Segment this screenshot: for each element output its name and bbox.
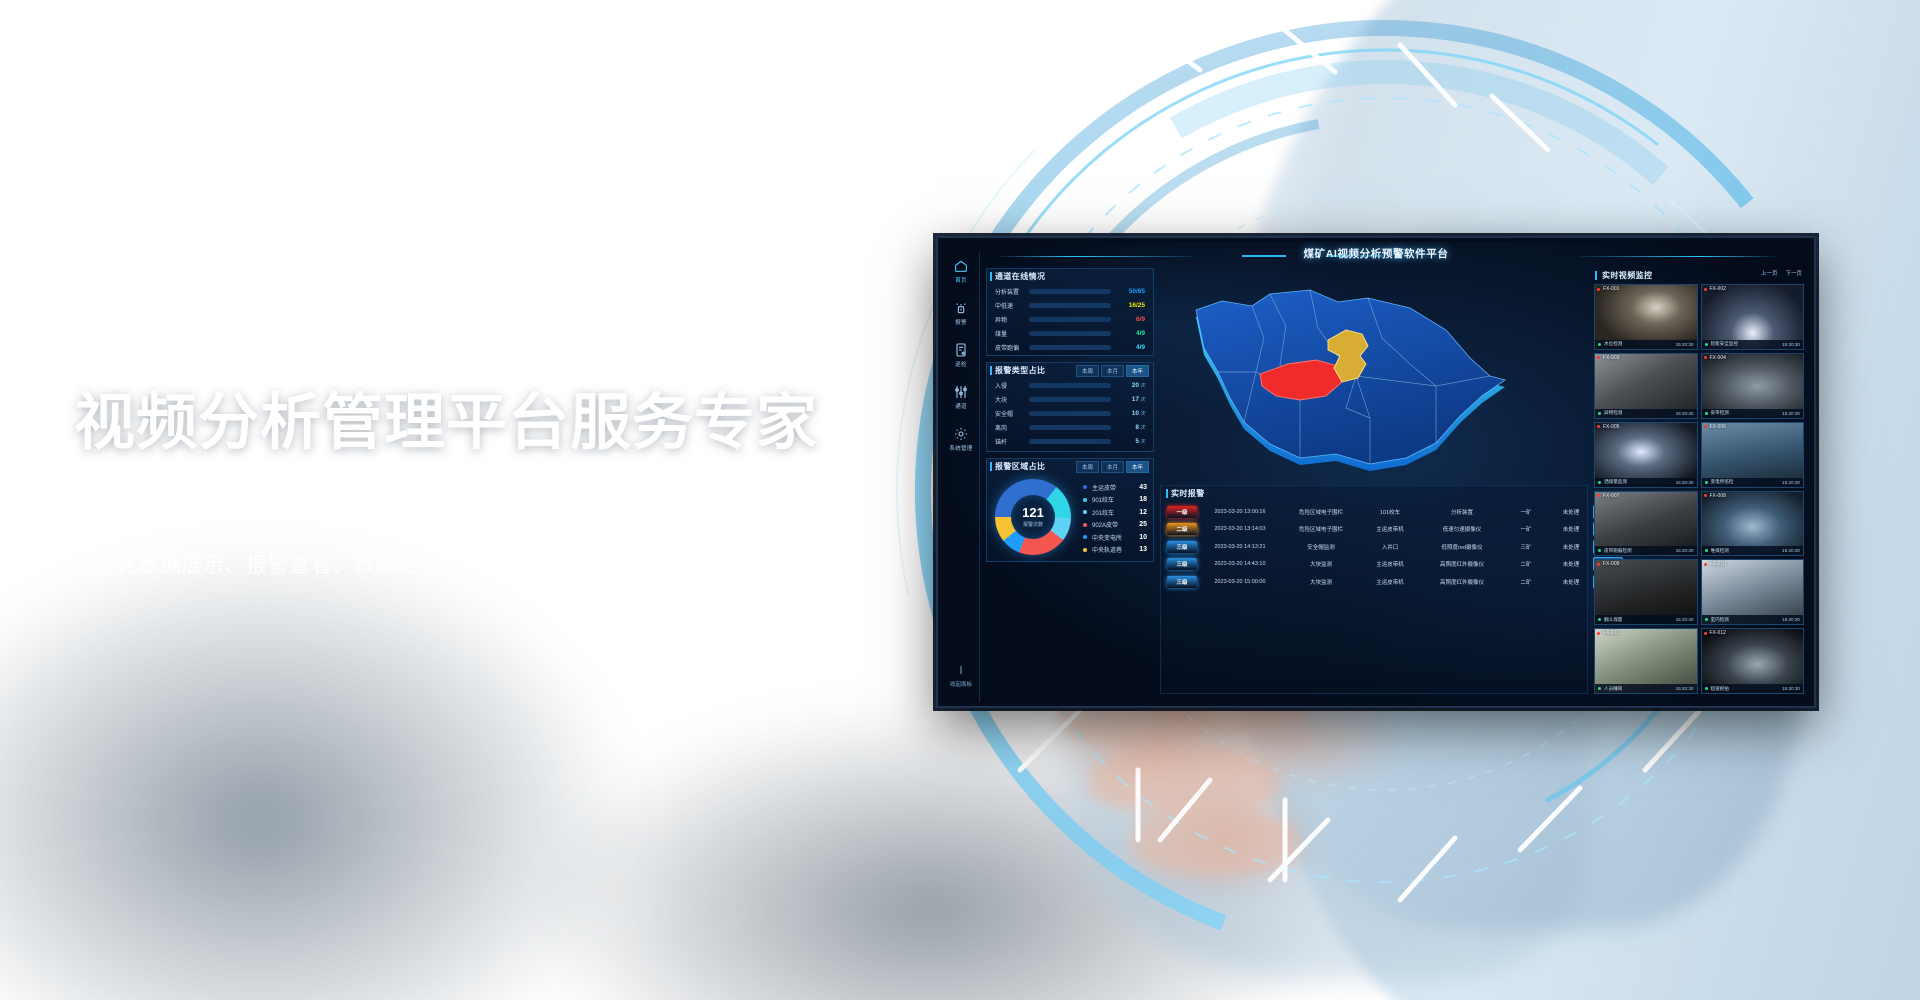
table-row: 三级2023-03-20 14:13:21安全帽监测入井口低照度red摄像仪三矿… (1161, 538, 1587, 556)
video-tile-name: 室内检测 (1711, 617, 1783, 623)
panel-accent-bar (990, 462, 992, 471)
alarm-type-name: 离岗 (995, 423, 1029, 432)
online-status-icon (1705, 687, 1708, 690)
online-status-icon (1598, 412, 1601, 415)
alarm-type: 危险区域电子围栏 (1283, 525, 1359, 533)
alarm-type-value: 20次 (1111, 382, 1145, 389)
channel-icon (953, 384, 969, 400)
legend-value: 13 (1127, 546, 1147, 553)
sidebar-label-system-settings: 系统管理 (942, 444, 980, 452)
legend-item: 中央变电所10 (1083, 531, 1147, 544)
alarm-type: 大块监测 (1283, 560, 1359, 568)
alarm-device: 低照度red摄像仪 (1421, 543, 1503, 551)
sidebar-item-channel[interactable]: 通道 (942, 384, 980, 410)
alarm-level-badge: 二级 (1167, 523, 1197, 535)
video-tile-name: 翻斗煤量 (1604, 617, 1676, 623)
channel-row-value: 4/9 (1111, 330, 1145, 337)
camera-id: FX-005 (1597, 424, 1619, 430)
dashboard-screen: 煤矿AI视频分析预警软件平台 首页 (942, 242, 1810, 702)
video-timestamp: 15:20:30 (1782, 686, 1800, 691)
map-svg (1160, 268, 1552, 480)
video-tile[interactable]: FX-006变电所巡检15:20:30 (1701, 422, 1805, 488)
alarm-time: 2023-03-20 14:13:21 (1197, 544, 1283, 550)
alarm-area-period-tabs[interactable]: 本周本月本年 (1076, 461, 1149, 473)
donut-total-caption: 报警次数 (1023, 521, 1043, 528)
alarm-type-rows: 入侵20次大块17次安全帽10次离岗8次锚杆5次 (987, 378, 1153, 448)
donut-center: 121 报警次数 (1011, 495, 1055, 539)
video-tile-name: 皮带检测 (1711, 410, 1783, 416)
legend-item: 201绞车12 (1083, 506, 1147, 519)
alarm-icon (953, 300, 969, 316)
channel-row-track (1029, 303, 1111, 308)
alarm-level-badge: 三级 (1167, 576, 1197, 588)
channel-status-panel: 通道在线情况 分析装置50/65中低速16/25异物6/9煤量4/9皮带跑偏4/… (986, 268, 1154, 356)
alarm-type-track (1029, 383, 1111, 388)
video-tile-name: 堆煤检测 (1711, 548, 1783, 554)
panel-accent-bar (990, 272, 992, 281)
online-status-icon (1598, 343, 1601, 346)
channel-row-name: 煤量 (995, 329, 1029, 338)
channel-row-value: 16/25 (1111, 302, 1145, 309)
alarm-type-track (1029, 411, 1111, 416)
dashboard-header: 煤矿AI视频分析预警软件平台 (942, 242, 1810, 268)
video-tile-name: 洒煤量监测 (1604, 479, 1676, 485)
hero-subtitle: EXPERT IN VIDEO ANALYSIS MANAGEMENT PLAT… (74, 474, 934, 500)
alarm-device: 高照度红外摄像仪 (1421, 560, 1503, 568)
alarm-type-unit: 次 (1140, 397, 1145, 403)
video-tile[interactable]: FX-001水位检测15:20:30 (1594, 284, 1698, 350)
alarm-type-unit: 次 (1140, 411, 1145, 417)
realtime-alarm-header: 实时报警 (1161, 486, 1587, 501)
video-timestamp: 15:20:30 (1676, 480, 1694, 485)
alarm-type-unit: 次 (1140, 425, 1145, 431)
video-timestamp: 15:20:30 (1782, 617, 1800, 622)
background-blur-bottom (520, 700, 1340, 1000)
period-tab[interactable]: 本月 (1101, 365, 1124, 377)
channel-row-track (1029, 317, 1111, 322)
page-title: 视频分析管理平台服务专家 (74, 390, 934, 454)
panel-accent-bar (1166, 489, 1168, 498)
video-tile[interactable]: FX-003异物检测15:20:30 (1594, 353, 1698, 419)
video-timestamp: 15:20:30 (1676, 686, 1694, 691)
sidebar-label-channel: 通道 (942, 402, 980, 410)
alarm-type: 安全帽监测 (1283, 543, 1359, 551)
table-row: 三级2023-03-20 15:00:00大块监测主运皮带机高照度红外摄像仪二矿… (1161, 573, 1587, 591)
legend-dot (1083, 535, 1087, 539)
alarm-time: 2023-03-20 15:00:00 (1197, 579, 1283, 585)
alarm-time: 2023-03-20 14:43:10 (1197, 561, 1283, 567)
channel-row-track (1029, 289, 1111, 294)
hero-divider (74, 522, 110, 525)
channel-row-track (1029, 345, 1111, 350)
camera-id: FX-010 (1704, 561, 1726, 567)
alarm-type: 危险区域电子围栏 (1283, 508, 1359, 516)
table-row: 一级2023-03-20 13:00:16危险区域电子围栏101绞车分析装置一矿… (1161, 503, 1587, 521)
alarm-type-period-tabs[interactable]: 本周本月本年 (1076, 365, 1149, 377)
alarm-type-value: 8次 (1111, 424, 1145, 431)
video-tile[interactable]: FX-002智能安全监控15:20:30 (1701, 284, 1805, 350)
alarm-area-panel-header: 报警区域占比 本周本月本年 (987, 459, 1153, 474)
video-timestamp: 15:20:30 (1676, 548, 1694, 553)
legend-value: 25 (1127, 521, 1147, 528)
online-status-icon (1598, 618, 1601, 621)
video-tile-footer: 洒煤量监测15:20:30 (1595, 478, 1697, 487)
video-tile[interactable]: FX-005洒煤量监测15:20:30 (1594, 422, 1698, 488)
video-tile-name: 水位检测 (1604, 341, 1676, 347)
channel-panel-title: 通道在线情况 (995, 272, 1045, 281)
video-timestamp: 15:20:30 (1782, 480, 1800, 485)
legend-item: 902A皮带25 (1083, 519, 1147, 532)
alarm-mine: 二矿 (1503, 560, 1549, 568)
sidebar-item-alarm[interactable]: 报警 (942, 300, 980, 326)
channel-row-name: 异物 (995, 315, 1029, 324)
sidebar-label-home: 首页 (942, 276, 980, 284)
alarm-type-panel-title: 报警类型占比 (995, 366, 1045, 375)
sidebar-label-alarm: 报警 (942, 318, 980, 326)
realtime-alarm-title: 实时报警 (1171, 489, 1205, 498)
sidebar-collapse-label: 收起面板 (950, 682, 972, 688)
alarm-location: 主运皮带机 (1359, 578, 1421, 586)
camera-id: FX-004 (1704, 355, 1726, 361)
header-line-right (1580, 256, 1780, 257)
prev-page-button[interactable]: 上一页 (1761, 269, 1778, 277)
alarm-level-badge: 三级 (1167, 558, 1197, 570)
alarm-type-name: 锚杆 (995, 437, 1029, 446)
camera-id: FX-012 (1704, 630, 1726, 636)
alarm-type-track (1029, 397, 1111, 402)
sidebar-item-home[interactable]: 首页 (942, 258, 980, 284)
video-tile[interactable]: FX-008堆煤检测15:20:30 (1701, 491, 1805, 557)
legend-value: 10 (1127, 534, 1147, 541)
alarm-type-value: 17次 (1111, 396, 1145, 403)
legend-dot (1083, 548, 1087, 552)
video-tile-footer: 人员睡岗15:20:30 (1595, 684, 1697, 693)
period-tab[interactable]: 本周 (1076, 365, 1099, 377)
video-tile-name: 异物检测 (1604, 410, 1676, 416)
legend-value: 12 (1127, 509, 1147, 516)
alarm-location: 主运皮带机 (1359, 525, 1421, 533)
background-blur-left (0, 540, 640, 1000)
video-tile[interactable]: FX-012超速抓拍15:20:30 (1701, 628, 1805, 694)
legend-value: 18 (1127, 496, 1147, 503)
video-tile-name: 智能安全监控 (1711, 341, 1783, 347)
online-status-icon (1598, 549, 1601, 552)
video-tile-footer: 堆煤检测15:20:30 (1702, 546, 1804, 555)
legend-item: 主运皮带43 (1083, 481, 1147, 494)
online-status-icon (1705, 618, 1708, 621)
home-icon (953, 258, 969, 274)
camera-id: FX-009 (1597, 561, 1619, 567)
alarm-time: 2023-03-20 13:00:16 (1197, 509, 1283, 515)
channel-row: 分析装置50/65 (987, 284, 1153, 298)
alarm-area-panel: 报警区域占比 本周本月本年 121 报警次数 主运皮带43901绞车18201绞… (986, 458, 1154, 562)
alarm-type-unit: 次 (1140, 439, 1145, 445)
period-tab[interactable]: 本周 (1076, 461, 1099, 473)
channel-row: 皮带跑偏4/9 (987, 340, 1153, 354)
dashboard-sidebar: 首页 报警 巡检 (942, 252, 980, 702)
video-tile-footer: 智能安全监控15:20:30 (1702, 340, 1804, 349)
next-page-button[interactable]: 下一页 (1785, 269, 1802, 277)
alarm-type-row: 入侵20次 (987, 378, 1153, 392)
video-tile-footer: 翻斗煤量15:20:30 (1595, 615, 1697, 624)
camera-id: FX-002 (1704, 286, 1726, 292)
regional-map[interactable] (1160, 268, 1552, 480)
alarm-time: 2023-03-20 13:14:03 (1197, 526, 1283, 532)
video-tile-footer: 超速抓拍15:20:30 (1702, 684, 1804, 693)
channel-row-value: 6/9 (1111, 316, 1145, 323)
panel-accent-bar (990, 366, 992, 375)
legend-label: 主运皮带 (1092, 483, 1127, 492)
alarm-location: 101绞车 (1359, 508, 1421, 516)
video-tile[interactable]: FX-011人员睡岗15:20:30 (1594, 628, 1698, 694)
alarm-type-row: 大块17次 (987, 392, 1153, 406)
video-tile[interactable]: FX-010室内检测15:20:30 (1701, 559, 1805, 625)
alarm-status: 未处理 (1549, 543, 1593, 551)
channel-row-track (1029, 331, 1111, 336)
channel-row-value: 50/65 (1111, 288, 1145, 295)
video-tile-footer: 皮带跑偏检测15:20:30 (1595, 546, 1697, 555)
alarm-location: 主运皮带机 (1359, 560, 1421, 568)
alarm-status: 未处理 (1549, 560, 1593, 568)
online-status-icon (1598, 481, 1601, 484)
realtime-alarm-panel: 实时报警 一级2023-03-20 13:00:16危险区域电子围栏101绞车分… (1160, 485, 1588, 694)
video-timestamp: 15:20:30 (1782, 411, 1800, 416)
alarm-type-name: 大块 (995, 395, 1029, 404)
hero-banner: 视频分析管理平台服务专家 EXPERT IN VIDEO ANALYSIS MA… (0, 0, 1920, 1000)
camera-id: FX-007 (1597, 493, 1619, 499)
inspection-icon (953, 342, 969, 358)
online-status-icon (1705, 481, 1708, 484)
video-tile-name: 皮带跑偏检测 (1604, 548, 1676, 554)
hero-description: 可视化数据展示、报警查看、数据汇总分析、智能分析决策，实现高效的人机交互 (74, 549, 934, 579)
channel-rows: 分析装置50/65中低速16/25异物6/9煤量4/9皮带跑偏4/9 (987, 284, 1153, 354)
alarm-mine: 二矿 (1503, 578, 1549, 586)
legend-label: 901绞车 (1092, 495, 1127, 504)
video-tile[interactable]: FX-007皮带跑偏检测15:20:30 (1594, 491, 1698, 557)
legend-dot (1083, 498, 1087, 502)
camera-id: FX-006 (1704, 424, 1726, 430)
alarm-mine: 一矿 (1503, 525, 1549, 533)
panel-accent-bar (1595, 271, 1597, 280)
realtime-video-panel: 实时视频监控 上一页 下一页 FX-001水位检测15:20:30FX-002智… (1594, 268, 1804, 694)
period-tab[interactable]: 本年 (1126, 461, 1149, 473)
period-tab[interactable]: 本年 (1126, 365, 1149, 377)
video-timestamp: 15:20:30 (1676, 411, 1694, 416)
legend-label: 201绞车 (1092, 508, 1127, 517)
video-tile-name: 超速抓拍 (1711, 686, 1783, 692)
online-status-icon (1705, 412, 1708, 415)
alarm-type-name: 安全帽 (995, 409, 1029, 418)
legend-item: 中央轨道巷13 (1083, 544, 1147, 557)
alarm-status: 未处理 (1549, 508, 1593, 516)
legend-label: 中央变电所 (1092, 533, 1127, 542)
alarm-type-row: 离岗8次 (987, 420, 1153, 434)
donut-legend: 主运皮带43901绞车18201绞车12902A皮带25中央变电所10中央轨道巷… (1083, 481, 1147, 556)
online-status-icon (1598, 687, 1601, 690)
alarm-mine: 一矿 (1503, 508, 1549, 516)
alarm-area-panel-title: 报警区域占比 (995, 462, 1045, 471)
alarm-type-track (1029, 425, 1111, 430)
alarm-type-value: 10次 (1111, 410, 1145, 417)
period-tab[interactable]: 本月 (1101, 461, 1124, 473)
hero-copy: 视频分析管理平台服务专家 EXPERT IN VIDEO ANALYSIS MA… (74, 390, 934, 579)
alarm-type-row: 安全帽10次 (987, 406, 1153, 420)
channel-row: 异物6/9 (987, 312, 1153, 326)
table-row: 二级2023-03-20 13:14:03危险区域电子围栏主运皮带机低速匀速摄像… (1161, 521, 1587, 539)
video-tile-footer: 变电所巡检15:20:30 (1702, 478, 1804, 487)
video-tile-footer: 水位检测15:20:30 (1595, 340, 1697, 349)
settings-icon (953, 426, 969, 442)
table-row: 三级2023-03-20 14:43:10大块监测主运皮带机高照度红外摄像仪二矿… (1161, 556, 1587, 574)
legend-dot (1083, 510, 1087, 514)
alarm-type-row: 锚杆5次 (987, 434, 1153, 448)
collapse-icon (942, 664, 980, 678)
video-tile-name: 变电所巡检 (1711, 479, 1783, 485)
alarm-device: 高照度红外摄像仪 (1421, 578, 1503, 586)
video-timestamp: 15:20:30 (1782, 548, 1800, 553)
alarm-location: 入井口 (1359, 543, 1421, 551)
online-status-icon (1705, 343, 1708, 346)
alarm-status: 未处理 (1549, 525, 1593, 533)
channel-row-value: 4/9 (1111, 344, 1145, 351)
alarm-type-unit: 次 (1140, 383, 1145, 389)
sidebar-item-inspection[interactable]: 巡检 (942, 342, 980, 368)
alarm-level-badge: 一级 (1167, 506, 1197, 518)
video-timestamp: 15:20:30 (1782, 342, 1800, 347)
video-tile-name: 人员睡岗 (1604, 686, 1676, 692)
donut-total-value: 121 (1022, 506, 1044, 519)
legend-value: 43 (1127, 484, 1147, 491)
alarm-device: 低速匀速摄像仪 (1421, 525, 1503, 533)
channel-row: 煤量4/9 (987, 326, 1153, 340)
video-panel-title: 实时视频监控 (1602, 271, 1652, 280)
alarm-device: 分析装置 (1421, 508, 1503, 516)
alarm-type-name: 入侵 (995, 381, 1029, 390)
alarm-type-panel: 报警类型占比 本周本月本年 入侵20次大块17次安全帽10次离岗8次锚杆5次 (986, 362, 1154, 452)
camera-id: FX-008 (1704, 493, 1726, 499)
video-tile-footer: 室内检测15:20:30 (1702, 615, 1804, 624)
alarm-type-value: 5次 (1111, 438, 1145, 445)
alarm-mine: 三矿 (1503, 543, 1549, 551)
legend-dot (1083, 485, 1087, 489)
legend-dot (1083, 523, 1087, 527)
dashboard-title: 煤矿AI视频分析预警软件平台 (942, 246, 1810, 261)
legend-label: 902A皮带 (1092, 520, 1127, 529)
alarm-level-badge: 三级 (1167, 541, 1197, 553)
online-status-icon (1705, 549, 1708, 552)
video-pager: 上一页 下一页 (1761, 269, 1802, 277)
sidebar-item-system-settings[interactable]: 系统管理 (942, 426, 980, 452)
camera-id: FX-001 (1597, 286, 1619, 292)
alarm-table-body: 一级2023-03-20 13:00:16危险区域电子围栏101绞车分析装置一矿… (1161, 503, 1587, 691)
legend-label: 中央轨道巷 (1092, 545, 1127, 554)
sidebar-label-inspection: 巡检 (942, 360, 980, 368)
video-tile-footer: 皮带检测15:20:30 (1702, 409, 1804, 418)
alarm-type-track (1029, 439, 1111, 444)
alarm-area-donut-chart: 121 报警次数 (995, 479, 1071, 555)
channel-row: 中低速16/25 (987, 298, 1153, 312)
video-panel-header: 实时视频监控 上一页 下一页 (1594, 268, 1804, 283)
channel-row-name: 中低速 (995, 301, 1029, 310)
video-grid: FX-001水位检测15:20:30FX-002智能安全监控15:20:30FX… (1594, 284, 1804, 694)
video-tile[interactable]: FX-009翻斗煤量15:20:30 (1594, 559, 1698, 625)
channel-row-name: 皮带跑偏 (995, 343, 1029, 352)
alarm-type-panel-header: 报警类型占比 本周本月本年 (987, 363, 1153, 378)
camera-id: FX-003 (1597, 355, 1619, 361)
video-tile-footer: 异物检测15:20:30 (1595, 409, 1697, 418)
alarm-type: 大块监测 (1283, 578, 1359, 586)
alarm-status: 未处理 (1549, 578, 1593, 586)
video-tile[interactable]: FX-004皮带检测15:20:30 (1701, 353, 1805, 419)
channel-panel-header: 通道在线情况 (987, 269, 1153, 284)
camera-id: FX-011 (1597, 630, 1619, 636)
sidebar-collapse-button[interactable]: 收起面板 (942, 664, 980, 688)
legend-item: 901绞车18 (1083, 494, 1147, 507)
channel-row-name: 分析装置 (995, 287, 1029, 296)
video-timestamp: 15:20:30 (1676, 617, 1694, 622)
dashboard-monitor: 煤矿AI视频分析预警软件平台 首页 (936, 236, 1816, 708)
video-timestamp: 15:20:30 (1676, 342, 1694, 347)
